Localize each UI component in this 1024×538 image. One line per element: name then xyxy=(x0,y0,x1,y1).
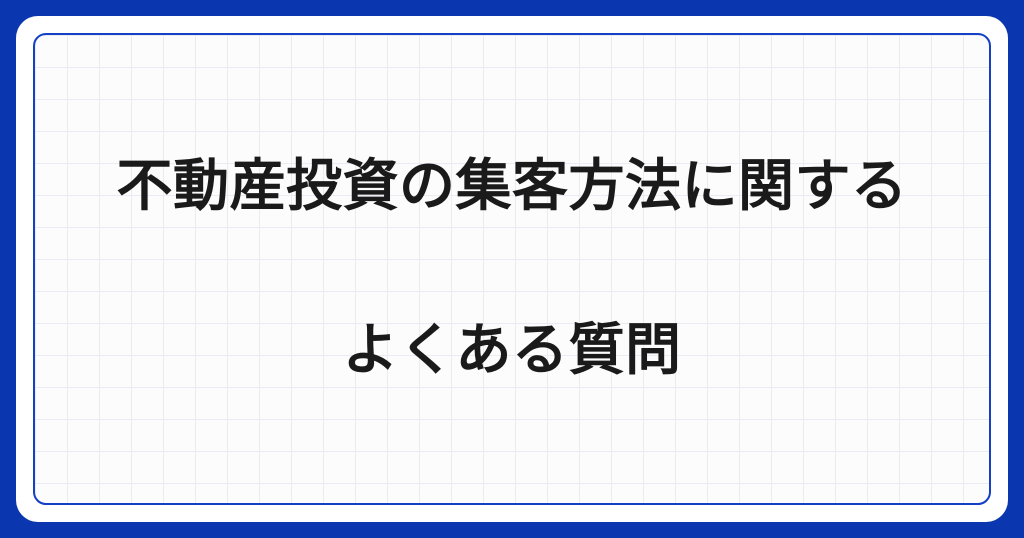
panel-content: 不動産投資の集客方法に関する よくある質問 xyxy=(35,35,989,503)
page-title-line-1: 不動産投資の集客方法に関する xyxy=(117,146,908,228)
grid-panel: 不動産投資の集客方法に関する よくある質問 xyxy=(33,33,991,505)
faq-title-banner: 不動産投資の集客方法に関する よくある質問 xyxy=(0,0,1024,538)
page-title-line-2: よくある質問 xyxy=(117,310,908,392)
page-title: 不動産投資の集客方法に関する よくある質問 xyxy=(77,65,948,474)
